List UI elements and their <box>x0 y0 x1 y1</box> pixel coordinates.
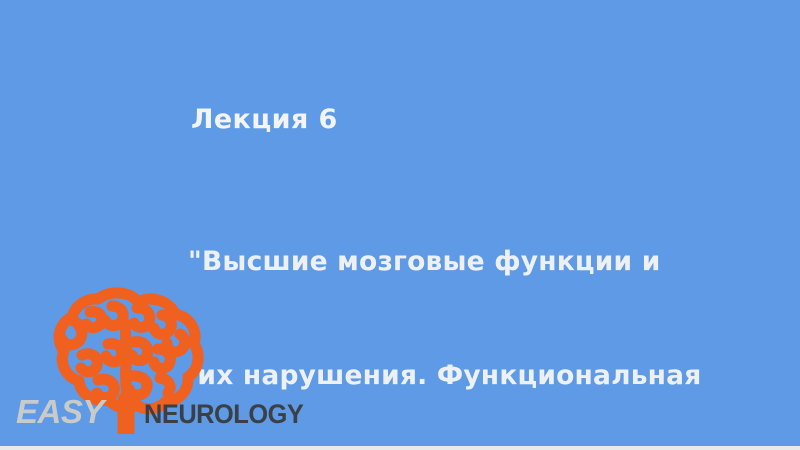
subject-line-1: "Высшие мозговые функции и <box>188 243 751 281</box>
brand-logo: EASY NEUROLOGY <box>0 282 320 442</box>
logo-text-neurology: NEUROLOGY <box>144 398 303 430</box>
lecture-title-slide: Лекция 6 "Высшие мозговые функции и их н… <box>0 0 800 450</box>
bottom-letterbox-strip <box>0 446 800 450</box>
logo-wordmark: EASY NEUROLOGY <box>0 394 320 438</box>
logo-text-easy: EASY <box>16 394 104 430</box>
page-title: Лекция 6 <box>191 103 338 137</box>
